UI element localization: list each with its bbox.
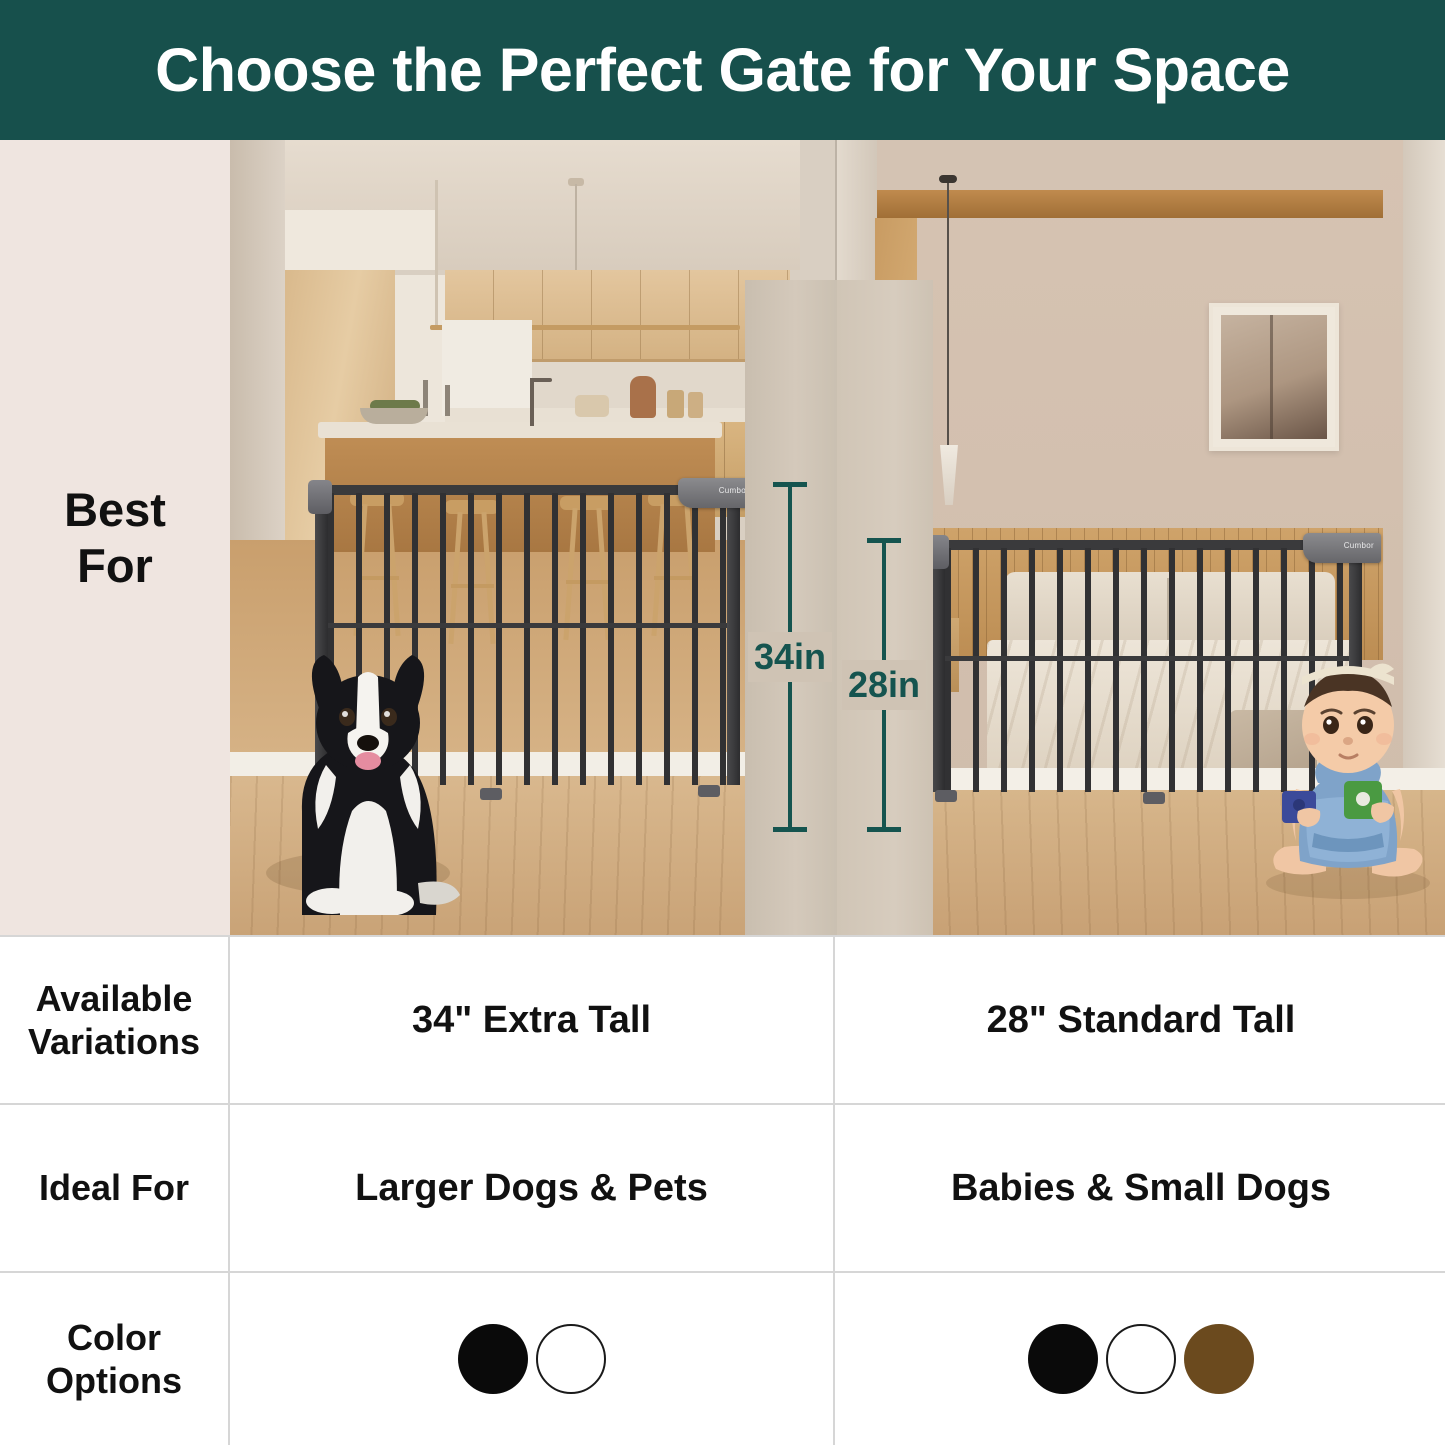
value-ideal-a: Larger Dogs & Pets [355, 1167, 708, 1210]
value-variation-a: 34" Extra Tall [412, 999, 651, 1042]
label-line-2: Options [46, 1359, 182, 1402]
kitchen-serving-bowl [360, 408, 428, 424]
cell-variations-extra-tall: 34" Extra Tall [230, 937, 835, 1103]
height-marker-28in: 28in [862, 538, 906, 832]
cell-variations-standard-tall: 28" Standard Tall [837, 937, 1445, 1103]
color-swatch[interactable] [458, 1324, 528, 1394]
hero-comparison-band: Best For [0, 140, 1445, 935]
cell-colors-standard-tall [837, 1273, 1445, 1445]
label-line-1: Color [46, 1316, 182, 1359]
color-swatch[interactable] [1106, 1324, 1176, 1394]
baby-with-toy-blocks [1248, 655, 1443, 900]
measure-value-28in: 28in [842, 660, 926, 710]
pendant-cord-left [435, 180, 438, 328]
height-marker-34in: 34in [768, 482, 812, 832]
kitchen-range-hood [442, 320, 532, 416]
gate-foot-center [480, 788, 502, 800]
best-for-line-1: Best [64, 482, 166, 537]
gate-foot-left [935, 790, 957, 802]
row-label-best-for-text: Best For [64, 482, 166, 593]
table-row-color-options: Color Options [0, 1271, 1445, 1445]
gate-right-post [727, 485, 740, 785]
best-for-line-2: For [64, 538, 166, 593]
gate-latch-handle[interactable]: Cumbor [1303, 533, 1381, 563]
table-row-available-variations: Available Variations 34" Extra Tall 28" … [0, 935, 1445, 1103]
bedroom-pendant-cap [939, 175, 957, 183]
measure-value-34in: 34in [748, 632, 832, 682]
kitchen-island-faucet [530, 378, 534, 426]
bedroom-pendant-cord [947, 180, 949, 450]
cell-ideal-for-standard-tall: Babies & Small Dogs [837, 1105, 1445, 1271]
measure-cap-top [773, 482, 807, 487]
infographic-page: Choose the Perfect Gate for Your Space B… [0, 0, 1445, 1445]
value-ideal-b: Babies & Small Dogs [951, 1167, 1331, 1210]
cell-colors-extra-tall [230, 1273, 835, 1445]
page-title: Choose the Perfect Gate for Your Space [155, 35, 1290, 105]
measure-cap-bottom [773, 827, 807, 832]
brand-mark: Cumbor [1344, 541, 1374, 550]
label-line-1: Available [28, 977, 200, 1020]
row-label-best-for: Best For [0, 140, 230, 935]
color-swatch-group-a [458, 1324, 606, 1394]
color-swatch[interactable] [536, 1324, 606, 1394]
row-label-color-options: Color Options [0, 1273, 230, 1445]
measure-cap-top [867, 538, 901, 543]
kitchen-jar-2 [688, 392, 703, 418]
framed-wall-art [1209, 303, 1339, 451]
measure-cap-bottom [867, 827, 901, 832]
kitchen-soffit [270, 210, 435, 270]
label-line-1: Ideal For [39, 1166, 189, 1209]
table-row-ideal-for: Ideal For Larger Dogs & Pets Babies & Sm… [0, 1103, 1445, 1271]
gate-hinge-left [308, 480, 332, 514]
kitchen-jar-1 [667, 390, 684, 418]
kitchen-faucet-tertiary [445, 385, 450, 416]
row-label-ideal-for: Ideal For [0, 1105, 230, 1271]
value-variation-b: 28" Standard Tall [987, 999, 1296, 1042]
kitchen-bottle [630, 376, 656, 418]
color-swatch-group-b [1028, 1324, 1254, 1394]
gate-foot-center [1143, 792, 1165, 804]
header-banner: Choose the Perfect Gate for Your Space [0, 0, 1445, 140]
color-swatch[interactable] [1028, 1324, 1098, 1394]
color-swatch[interactable] [1184, 1324, 1254, 1394]
gate-left-post [932, 540, 945, 792]
artwork-image [1221, 315, 1327, 439]
bedroom-wood-beam [875, 190, 1383, 218]
border-collie-dog [240, 615, 465, 915]
kitchen-pot [575, 395, 609, 417]
cell-ideal-for-extra-tall: Larger Dogs & Pets [230, 1105, 835, 1271]
kitchen-island-countertop [318, 422, 722, 438]
row-label-available-variations: Available Variations [0, 937, 230, 1103]
gate-foot-right [698, 785, 720, 797]
kitchen-back-counter [445, 408, 790, 422]
label-line-2: Variations [28, 1020, 200, 1063]
